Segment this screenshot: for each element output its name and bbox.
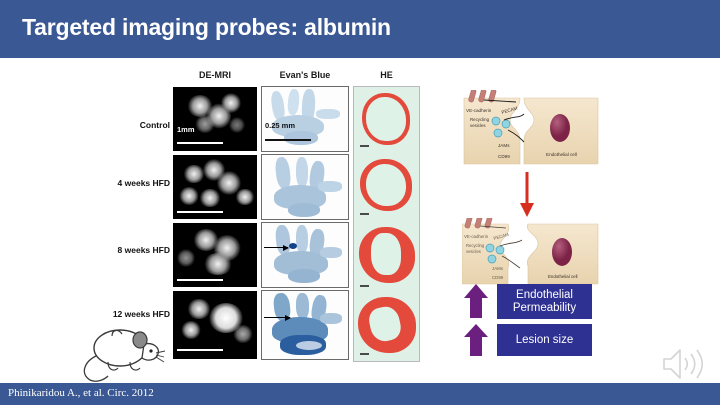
citation: Phinikaridou A., et al. Circ. 2012	[8, 387, 154, 399]
slide-title-bar: Targeted imaging probes: albumin	[0, 0, 720, 58]
endothelial-junction-diagram-normal: VE-cadherin PECAM Recycling vesicles JAM…	[462, 90, 602, 175]
svg-text:Endothelial cell: Endothelial cell	[546, 152, 577, 157]
svg-text:VE-cadherin: VE-cadherin	[464, 234, 489, 239]
svg-text:Endothelial cell: Endothelial cell	[548, 274, 578, 279]
evans-blue-image-4w	[261, 154, 349, 220]
up-arrow-lesion-size	[463, 323, 489, 362]
slide-footer-bar: Phinikaridou A., et al. Circ. 2012	[0, 383, 720, 405]
conclusion-line2-permeability: Permeability	[513, 302, 576, 314]
column-header-he: HE	[353, 70, 420, 80]
svg-text:vesicles: vesicles	[466, 249, 481, 254]
annotation-arrow-12w	[264, 317, 290, 318]
svg-text:VE-cadherin: VE-cadherin	[466, 108, 492, 113]
endothelial-junction-diagram-permeable: VE-cadherin PECAM Recycling vesicles JAM…	[462, 218, 602, 293]
svg-text:CD99: CD99	[498, 154, 510, 159]
row-label-12-weeks-hfd: 12 weeks HFD	[60, 309, 170, 319]
annotation-arrow-8w	[264, 247, 288, 248]
mouse-illustration	[78, 322, 174, 389]
svg-text:CD99: CD99	[492, 275, 504, 280]
he-histology-strip	[353, 86, 420, 362]
column-header-demri: DE-MRI	[172, 70, 258, 80]
demri-image-4w	[172, 154, 258, 220]
speaker-audio-icon[interactable]	[662, 347, 708, 386]
conclusion-line1-lesion: Lesion size	[516, 334, 574, 347]
row-label-8-weeks-hfd: 8 weeks HFD	[60, 245, 170, 255]
evans-blue-image-control: 0.25 mm	[261, 86, 349, 152]
row-label-control: Control	[60, 120, 170, 130]
svg-text:JAMs: JAMs	[498, 143, 510, 148]
column-header-evans-blue: Evan's Blue	[261, 70, 349, 80]
conclusion-line1-permeability: Endothelial	[516, 289, 573, 301]
page-title: Targeted imaging probes: albumin	[22, 14, 391, 41]
evans-blue-image-8w	[261, 222, 349, 288]
svg-text:Recycling: Recycling	[466, 243, 485, 248]
svg-text:JAMs: JAMs	[492, 266, 504, 271]
scalebar-label-demri: 1mm	[177, 125, 195, 134]
transition-red-arrow	[518, 172, 536, 223]
svg-text:vesicles: vesicles	[470, 123, 486, 128]
evans-blue-image-12w	[261, 290, 349, 360]
scalebar-label-evans: 0.25 mm	[265, 121, 295, 130]
svg-text:Recycling: Recycling	[470, 117, 490, 122]
demri-image-12w	[172, 290, 258, 360]
conclusion-box-lesion-size: Lesion size	[497, 324, 592, 356]
conclusion-box-endothelial-permeability: Endothelial Permeability	[497, 284, 592, 319]
demri-image-control: 1mm	[172, 86, 258, 152]
row-label-4-weeks-hfd: 4 weeks HFD	[60, 178, 170, 188]
demri-image-8w	[172, 222, 258, 288]
up-arrow-endothelial-permeability	[463, 283, 489, 324]
